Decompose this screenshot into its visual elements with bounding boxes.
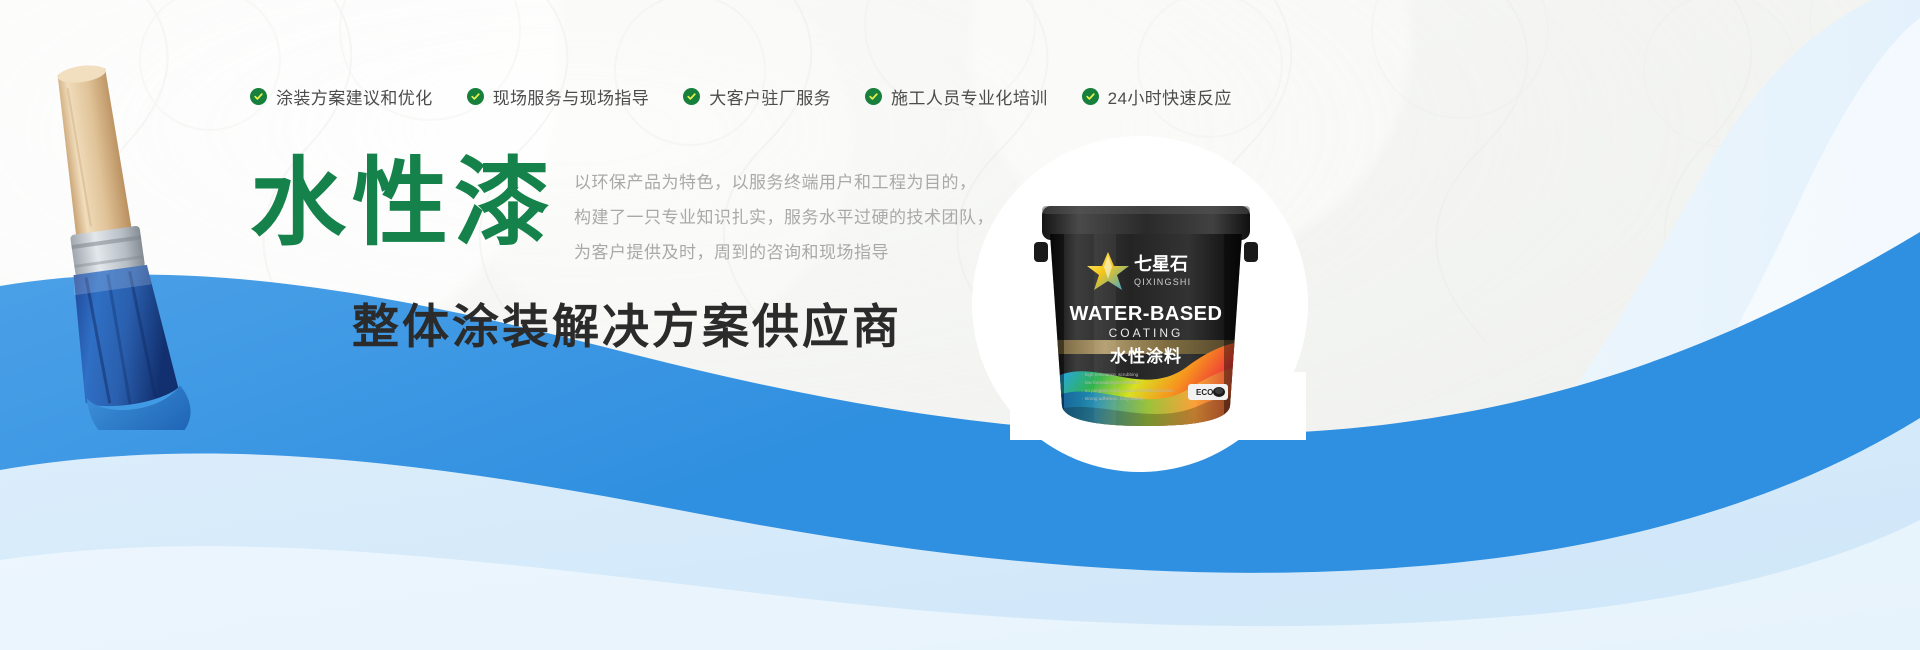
check-circle-icon <box>865 88 882 105</box>
feature-label: 大客户驻厂服务 <box>709 84 831 109</box>
check-circle-icon <box>683 88 700 105</box>
check-circle-icon <box>1082 88 1099 105</box>
svg-text:· high resistance, scrubbing: · high resistance, scrubbing <box>1082 372 1139 377</box>
headline-block: 水性漆 以环保产品为特色，以服务终端用户和工程为目的， 构建了一只专业知识扎实，… <box>250 152 994 271</box>
paint-bucket-product: 七星石 QIXINGSHI WATER-BASED COATING 水性涂料 ·… <box>1028 190 1264 430</box>
feature-item-3: 施工人员专业化培训 <box>865 84 1048 109</box>
svg-text:ECO: ECO <box>1196 388 1213 397</box>
feature-item-4: 24小时快速反应 <box>1082 84 1232 109</box>
feature-item-0: 涂装方案建议和优化 <box>250 84 433 109</box>
description-line-1: 构建了一只专业知识扎实，服务水平过硬的技术团队， <box>574 201 994 236</box>
check-circle-icon <box>467 88 484 105</box>
feature-label: 施工人员专业化培训 <box>891 84 1048 109</box>
feature-label: 涂装方案建议和优化 <box>276 84 433 109</box>
feature-list: 涂装方案建议和优化 现场服务与现场指导 大客户驻厂服务 <box>250 84 1232 109</box>
brand-en: QIXINGSHI <box>1134 277 1191 287</box>
page-title: 水性漆 <box>250 152 556 256</box>
brand-cn: 七星石 <box>1134 254 1188 274</box>
page-subtitle: 整体涂装解决方案供应商 <box>352 288 902 357</box>
description-line-2: 为客户提供及时，周到的咨询和现场指导 <box>574 236 994 271</box>
feature-label: 24小时快速反应 <box>1108 84 1232 109</box>
feature-label: 现场服务与现场指导 <box>493 84 650 109</box>
feature-item-2: 大客户驻厂服务 <box>683 84 831 109</box>
svg-text:· strong adhesion, long lastin: · strong adhesion, long lasting <box>1082 396 1144 401</box>
hero-banner: 涂装方案建议和优化 现场服务与现场指导 大客户驻厂服务 <box>0 0 1920 650</box>
svg-text:· low formaldehyde emission: · low formaldehyde emission <box>1082 380 1141 385</box>
product-title-en: WATER-BASED <box>1070 303 1223 325</box>
check-circle-icon <box>250 88 267 105</box>
description-line-0: 以环保产品为特色，以服务终端用户和工程为目的， <box>574 166 994 201</box>
svg-text:· no pungent smell, environmen: · no pungent smell, environmental protec… <box>1082 388 1173 393</box>
product-title-cn: 水性涂料 <box>1110 346 1182 366</box>
feature-item-1: 现场服务与现场指导 <box>467 84 650 109</box>
eco-badge: ECO <box>1188 384 1228 400</box>
headline-description: 以环保产品为特色，以服务终端用户和工程为目的， 构建了一只专业知识扎实，服务水平… <box>574 152 994 271</box>
paintbrush-icon <box>42 60 232 430</box>
product-subtitle-en: COATING <box>1109 326 1184 340</box>
